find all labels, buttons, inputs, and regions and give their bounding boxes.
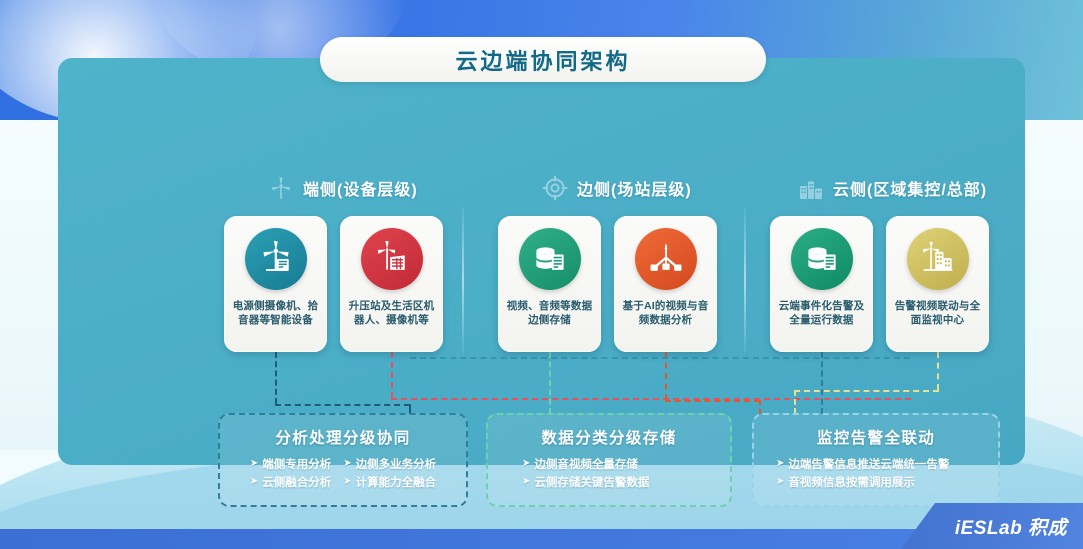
- bullet-arrow-icon: ➤: [343, 477, 351, 487]
- brand-logo-text: iESLab 积成: [955, 513, 1067, 540]
- box-analysis-collaboration[interactable]: 分析处理分级协同 ➤ 端侧专用分析 ➤ 边侧多业务分析 ➤ 云侧融合分析 ➤ 计…: [218, 413, 468, 507]
- list-item: ➤ 边侧音视频全量存储: [522, 456, 638, 472]
- box-monitor-alarm-linkage[interactable]: 监控告警全联动 ➤ 边端告警信息推送云端统一告警 ➤ 音视频信息按需调用展示: [752, 413, 1000, 507]
- list-item: ➤ 计算能力全融合: [343, 474, 436, 490]
- box-item-list: ➤ 端侧专用分析 ➤ 边侧多业务分析 ➤ 云侧融合分析 ➤ 计算能力全融合: [225, 456, 461, 490]
- list-item: ➤ 端侧专用分析: [250, 456, 331, 472]
- connector-card1-vertical: [391, 352, 393, 398]
- architecture-panel: 端侧(设备层级) 边侧(场站层级): [58, 58, 1025, 465]
- bullet-arrow-icon: ➤: [522, 477, 530, 487]
- connector-card5-vertical: [937, 352, 939, 390]
- server-building-icon: [798, 175, 824, 201]
- bullet-arrow-icon: ➤: [250, 459, 258, 469]
- section-header-cloud: 云侧(区域集控/总部): [798, 175, 987, 201]
- card-label: 升压站及生活区机器人、摄像机等: [346, 299, 438, 327]
- card-icon-circle: [361, 228, 423, 290]
- card-icon-circle: [519, 228, 581, 290]
- list-item: ➤ 音视频信息按需调用展示: [776, 474, 915, 490]
- connector-card1-horizontal: [391, 398, 911, 400]
- box-item-list: ➤ 边侧音视频全量存储 ➤ 云侧存储关键告警数据: [488, 456, 730, 490]
- card-label: 电源侧摄像机、拾音器等智能设备: [230, 299, 322, 327]
- list-item-label: 边端告警信息推送云端统一告警: [788, 456, 949, 472]
- section-header-edge: 边侧(场站层级): [542, 175, 692, 201]
- card-monitor-center[interactable]: 告警视频联动与全面监视中心: [886, 216, 989, 352]
- gear-circle-icon: [542, 175, 568, 201]
- connector-card3-drop: [759, 400, 761, 414]
- connector-card0-vertical: [275, 352, 277, 404]
- list-item-label: 云侧存储关键告警数据: [534, 474, 649, 490]
- bullet-arrow-icon: ➤: [343, 459, 351, 469]
- card-icon-circle: [907, 228, 969, 290]
- box-title: 数据分类分级存储: [541, 426, 676, 448]
- bullet-arrow-icon: ➤: [250, 477, 258, 487]
- wind-turbine-icon: [268, 175, 294, 201]
- page-title: 云边端协同架构: [320, 37, 766, 82]
- card-icon-circle: [245, 228, 307, 290]
- connector-card5-drop: [794, 390, 796, 414]
- slide-canvas: 端侧(设备层级) 边侧(场站层级): [0, 0, 1083, 549]
- list-item: ➤ 云侧存储关键告警数据: [522, 474, 649, 490]
- card-label: 云端事件化告警及全量运行数据: [776, 299, 868, 327]
- card-ai-analysis[interactable]: 基于AI的视频与音频数据分析: [614, 216, 717, 352]
- card-icon-circle: [635, 228, 697, 290]
- box-title: 分析处理分级协同: [275, 426, 410, 448]
- bullet-arrow-icon: ➤: [776, 459, 784, 469]
- list-item-label: 边侧音视频全量存储: [534, 456, 638, 472]
- list-item: ➤ 边端告警信息推送云端统一告警: [776, 456, 949, 472]
- box-data-classification-storage[interactable]: 数据分类分级存储 ➤ 边侧音视频全量存储 ➤ 云侧存储关键告警数据: [486, 413, 732, 507]
- connector-card3-vertical: [665, 352, 667, 400]
- page-title-text: 云边端协同架构: [455, 44, 630, 76]
- list-item: ➤ 云侧融合分析: [250, 474, 331, 490]
- connector-card2-vertical: [549, 352, 551, 414]
- card-substation-robot[interactable]: 升压站及生活区机器人、摄像机等: [340, 216, 443, 352]
- section-header-label: 端侧(设备层级): [303, 176, 418, 200]
- list-item-label: 边侧多业务分析: [356, 456, 437, 472]
- connector-card5-horizontal: [794, 390, 939, 392]
- connector-card0-horizontal: [275, 404, 410, 406]
- section-header-label: 边侧(场站层级): [577, 176, 692, 200]
- card-label: 基于AI的视频与音频数据分析: [620, 299, 712, 327]
- card-edge-storage[interactable]: 视频、音频等数据边侧存储: [498, 216, 601, 352]
- bullet-arrow-icon: ➤: [776, 477, 784, 487]
- list-item-label: 端侧专用分析: [262, 456, 331, 472]
- section-header-device: 端侧(设备层级): [268, 175, 418, 201]
- card-label: 告警视频联动与全面监视中心: [892, 299, 984, 327]
- connector-card3-horizontal: [665, 400, 760, 402]
- section-divider-1: [462, 206, 464, 354]
- connector-card4-vertical: [821, 352, 823, 414]
- list-item-label: 云侧融合分析: [262, 474, 331, 490]
- section-divider-2: [744, 206, 746, 354]
- list-item: ➤ 边侧多业务分析: [343, 456, 436, 472]
- card-device-camera[interactable]: 电源侧摄像机、拾音器等智能设备: [224, 216, 327, 352]
- card-cloud-alarm-data[interactable]: 云端事件化告警及全量运行数据: [770, 216, 873, 352]
- connector-bus-main: [410, 357, 910, 359]
- box-item-list: ➤ 边端告警信息推送云端统一告警 ➤ 音视频信息按需调用展示: [754, 456, 998, 490]
- bullet-arrow-icon: ➤: [522, 459, 530, 469]
- card-icon-circle: [791, 228, 853, 290]
- section-header-label: 云侧(区域集控/总部): [833, 176, 987, 200]
- list-item-label: 音视频信息按需调用展示: [788, 474, 915, 490]
- box-title: 监控告警全联动: [817, 426, 935, 448]
- list-item-label: 计算能力全融合: [356, 474, 437, 490]
- card-label: 视频、音频等数据边侧存储: [504, 299, 596, 327]
